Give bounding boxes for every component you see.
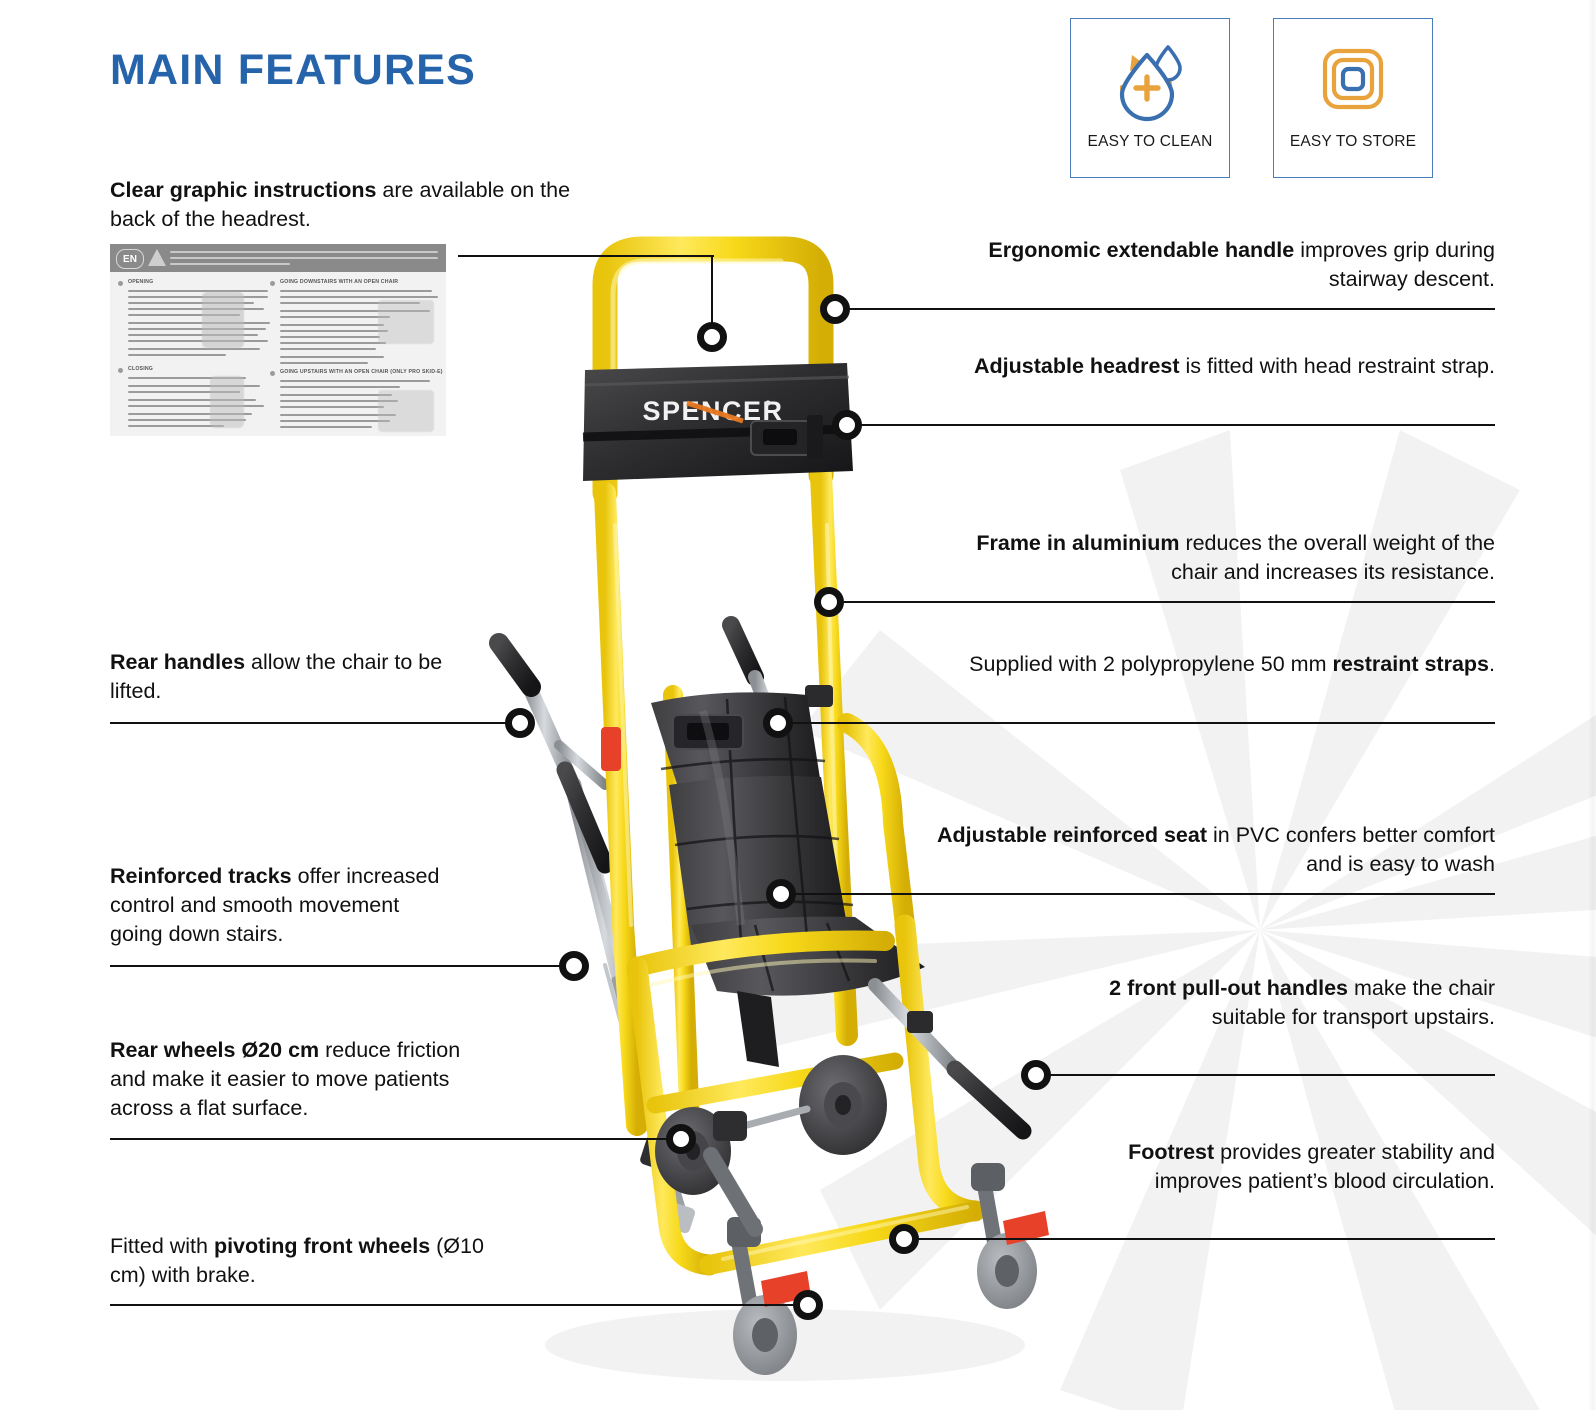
feature-frame-in-aluminium: Frame in aluminium reduces the overall w… — [935, 529, 1495, 587]
leader-line-adjustable-reinforced-seat — [795, 893, 1495, 895]
callout-marker-front-pull-out-handles — [1021, 1060, 1051, 1090]
instruction-label-thumbnail: EN OPENING CLOSING GOING DOWNSTAIRS WITH… — [110, 244, 446, 436]
callout-marker-rear-wheels — [666, 1124, 696, 1154]
leader-line-rear-handles — [110, 722, 507, 724]
feature-footrest: Footrest provides greater stability and … — [1045, 1138, 1495, 1196]
badge-easy-to-clean: EASY TO CLEAN — [1070, 18, 1230, 178]
callout-marker-ergonomic-extendable-handle — [820, 294, 850, 324]
feature-bold: Rear handles — [110, 650, 245, 674]
feature-pivoting-front-wheels: Fitted with pivoting front wheels (Ø10 c… — [110, 1232, 510, 1290]
feature-rest: in PVC confers better comfort and is eas… — [1207, 823, 1495, 876]
label-section-title: GOING UPSTAIRS WITH AN OPEN CHAIR (ONLY … — [280, 369, 443, 375]
feature-adjustable-reinforced-seat: Adjustable reinforced seat in PVC confer… — [935, 821, 1495, 879]
callout-marker-frame-in-aluminium — [814, 587, 844, 617]
leader-line-clear-graphic-instructions — [458, 255, 714, 257]
leader-line-frame-in-aluminium — [843, 601, 1495, 603]
feature-rest: reduces the overall weight of the chair … — [1171, 531, 1495, 584]
feature-clear-graphic-instructions: Clear graphic instructions are available… — [110, 176, 590, 234]
leader-line-footrest — [918, 1238, 1495, 1240]
feature-pre: Fitted with — [110, 1234, 214, 1258]
feature-pre: Supplied with 2 polypropylene 50 mm — [969, 652, 1332, 676]
label-section-title: CLOSING — [128, 366, 153, 372]
feature-bold: Adjustable headrest — [974, 354, 1180, 378]
water-drop-clean-icon — [1102, 35, 1198, 131]
leader-line-restraint-straps — [792, 722, 1495, 724]
feature-restraint-straps: Supplied with 2 polypropylene 50 mm rest… — [935, 650, 1495, 679]
badge-easy-to-store: EASY TO STORE — [1273, 18, 1433, 178]
feature-bold: Adjustable reinforced seat — [937, 823, 1207, 847]
feature-bold: pivoting front wheels — [214, 1234, 430, 1258]
feature-front-pull-out-handles: 2 front pull-out handles make the chair … — [1045, 974, 1495, 1032]
callout-marker-rear-handles — [505, 708, 535, 738]
callout-marker-footrest — [889, 1224, 919, 1254]
feature-bold: Ergonomic extendable handle — [988, 238, 1294, 262]
feature-rear-wheels: Rear wheels Ø20 cm reduce friction and m… — [110, 1036, 490, 1123]
warning-triangle-icon — [148, 249, 166, 266]
feature-ergonomic-extendable-handle: Ergonomic extendable handle improves gri… — [935, 236, 1495, 294]
feature-rear-handles: Rear handles allow the chair to be lifte… — [110, 648, 450, 706]
feature-adjustable-headrest: Adjustable headrest is fitted with head … — [935, 352, 1495, 381]
feature-bold: 2 front pull-out handles — [1109, 976, 1348, 1000]
leader-line-rear-wheels — [110, 1138, 668, 1140]
label-section-title: GOING DOWNSTAIRS WITH AN OPEN CHAIR — [280, 279, 398, 285]
feature-bold: Rear wheels Ø20 cm — [110, 1038, 319, 1062]
callout-marker-restraint-straps — [763, 708, 793, 738]
feature-bold: Footrest — [1128, 1140, 1214, 1164]
product-photo-evacuation-chair: SPENCER — [455, 225, 1075, 1405]
feature-rest: is fitted with head restraint strap. — [1180, 354, 1495, 378]
feature-rest: . — [1489, 652, 1495, 676]
feature-bold: Frame in aluminium — [976, 531, 1179, 555]
feature-reinforced-tracks: Reinforced tracks offer increased contro… — [110, 862, 450, 949]
feature-bold: Clear graphic instructions — [110, 178, 376, 202]
callout-marker-clear-graphic-instructions — [697, 322, 727, 352]
feature-bold: Reinforced tracks — [110, 864, 292, 888]
label-lang-tag: EN — [116, 249, 144, 269]
leader-line-adjustable-headrest — [861, 424, 1495, 426]
page-title: MAIN FEATURES — [110, 46, 476, 95]
leader-line-front-pull-out-handles — [1050, 1074, 1495, 1076]
right-edge-shade — [1588, 0, 1596, 1410]
callout-marker-reinforced-tracks — [559, 951, 589, 981]
leader-line-ergonomic-extendable-handle — [849, 308, 1495, 310]
callout-marker-adjustable-headrest — [832, 410, 862, 440]
leader-line-pivoting-front-wheels — [110, 1304, 795, 1306]
badge-label: EASY TO STORE — [1290, 133, 1416, 151]
callout-marker-pivoting-front-wheels — [793, 1290, 823, 1320]
feature-rest: improves grip during stairway descent. — [1294, 238, 1495, 291]
badge-label: EASY TO CLEAN — [1088, 133, 1213, 151]
feature-bold: restraint straps — [1332, 652, 1489, 676]
label-section-title: OPENING — [128, 279, 153, 285]
leader-line-reinforced-tracks — [110, 965, 561, 967]
nested-square-store-icon — [1305, 35, 1401, 131]
callout-marker-adjustable-reinforced-seat — [766, 879, 796, 909]
